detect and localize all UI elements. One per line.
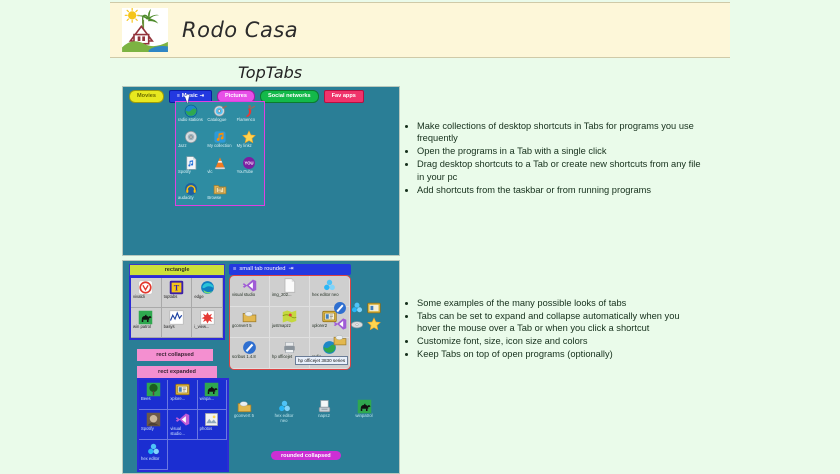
svg-text:YOU: YOU	[245, 161, 254, 166]
cd-disc-icon	[213, 104, 227, 118]
shortcut-winpatrol-expanded[interactable]: winpa...	[198, 380, 227, 410]
shortcut-bees[interactable]: Bees	[139, 380, 168, 410]
shortcut-youtube[interactable]: YOU YouTube	[235, 154, 264, 180]
shortcut-label: edge	[192, 295, 222, 300]
screenshot-toptabs-overview: Movies ≡ Music ⇥ Pictures Social network…	[122, 86, 400, 256]
tooltip-hp-officejet: hp officejet 3830 series	[295, 356, 348, 365]
tab-rounded-collapsed[interactable]: rounded collapsed	[271, 451, 341, 460]
shortcut-audacity[interactable]: audacity	[176, 180, 205, 206]
shortcut-hex-editor-expanded[interactable]: hex editor	[139, 440, 168, 470]
shortcut-spotify[interactable]: Spotify	[176, 154, 205, 180]
xplorer2-icon[interactable]	[367, 301, 381, 315]
shortcut-label: Jazz	[176, 144, 205, 149]
shortcut-my-linkz[interactable]: My linkz	[235, 128, 264, 154]
visual-studio-icon	[242, 278, 257, 293]
shortcut-img-202[interactable]: img_202...	[270, 276, 310, 307]
tab-movies[interactable]: Movies	[129, 90, 164, 103]
shortcut-basys[interactable]: basys	[162, 308, 193, 338]
tab-fav-apps-label: Fav apps	[332, 91, 356, 102]
shortcut-spotify-expanded[interactable]: Spotify	[139, 410, 168, 440]
vlc-cone-icon	[213, 156, 227, 170]
tab-social-networks-label: Social networks	[268, 91, 311, 102]
free-icon-cluster	[333, 301, 395, 349]
shortcut-my-collection[interactable]: My collection	[205, 128, 234, 154]
xplorer2-icon	[175, 382, 190, 397]
shortcut-label: Spotify	[176, 170, 205, 175]
shortcut-label: i_view...	[192, 325, 222, 330]
tab-movies-label: Movies	[137, 91, 156, 102]
list-item: Drag desktop shortcuts to a Tab or creat…	[417, 158, 704, 183]
tab-small-tab-rounded[interactable]: ≡ small tab rounded ⇥	[229, 264, 351, 275]
rect-expanded-icon-grid: Bees xplore...	[137, 378, 229, 472]
shortcut-vivaldi[interactable]: vivaldi	[131, 278, 162, 308]
globe-icon	[184, 104, 198, 118]
shortcut-flamenco[interactable]: Flamenco	[235, 102, 264, 128]
feature-list-2: Some examples of the many possible looks…	[404, 297, 694, 361]
winpatrol-dog-icon	[138, 310, 153, 325]
winpatrol-dog-icon	[204, 382, 219, 397]
hamburger-icon: ≡	[233, 264, 236, 275]
winpatrol-dog-icon	[357, 399, 372, 414]
shortcut-label: gconvert 5	[234, 414, 254, 419]
shortcut-label: YouTube	[235, 170, 264, 175]
cd-grey-icon	[184, 130, 198, 144]
rectangle-tab-panel: rectangle vivaldi T topt	[129, 264, 225, 472]
shortcut-label: Flamenco	[235, 118, 264, 123]
free-icon-row	[333, 301, 395, 315]
toptabs-icon: T	[169, 280, 184, 295]
page-title: TopTabs	[238, 63, 302, 82]
blank-document-icon	[282, 278, 297, 293]
shortcut-win-patrol[interactable]: win patrol	[131, 308, 162, 338]
shortcut-label: hex editor neo	[310, 293, 349, 298]
shortcut-xplorer2-expanded[interactable]: xplore...	[168, 380, 197, 410]
star-icon	[242, 130, 256, 144]
shortcut-label: img_202...	[270, 293, 309, 298]
visual-studio-icon	[175, 412, 190, 427]
shortcut-edge[interactable]: edge	[192, 278, 223, 308]
hex-editor-icon	[146, 442, 161, 457]
shortcut-label: My collection	[205, 144, 234, 149]
shortcut-label: hex editor	[139, 457, 167, 462]
shortcut-label: winpa...	[198, 397, 226, 402]
shortcut-justmapzz[interactable]: justmapzz	[270, 307, 310, 338]
tab-small-tab-rounded-label: small tab rounded	[239, 264, 285, 275]
shortcut-label: justmapzz	[270, 324, 309, 329]
site-header: Rodo Casa	[110, 2, 730, 58]
hex-editor-icon[interactable]	[350, 301, 364, 315]
music-tab-dropdown: radio stations Catalogue Flamenco	[175, 101, 265, 206]
star-icon[interactable]	[367, 317, 381, 331]
tab-fav-apps[interactable]: Fav apps	[324, 90, 364, 103]
shortcut-label: basys	[162, 325, 192, 330]
edge-icon	[200, 280, 215, 295]
shortcut-gconvert-5-bottom[interactable]: gconvert 5	[231, 399, 257, 424]
shortcut-irfanview[interactable]: i_view...	[192, 308, 223, 338]
shortcut-winpatrol-bottom[interactable]: winpatrol	[351, 399, 377, 424]
folder-cloud-icon[interactable]	[333, 333, 347, 347]
sun-house-palm-logo-icon	[122, 8, 168, 52]
shortcut-visual-studio-expanded[interactable]: visual studio...	[168, 410, 197, 440]
shortcut-label: win patrol	[131, 325, 161, 330]
list-item: Keep Tabs on top of open programs (optio…	[417, 348, 694, 360]
scribus-icon[interactable]	[333, 301, 347, 315]
shortcut-photos[interactable]: photos	[198, 410, 227, 440]
bottom-icon-row: gconvert 5 hex editor neo naps2	[231, 399, 377, 424]
feature-list-1: Make collections of desktop shortcuts in…	[404, 120, 704, 196]
list-item: Make collections of desktop shortcuts in…	[417, 120, 704, 145]
list-item: Add shortcuts from the taskbar or from r…	[417, 184, 704, 196]
list-item: Customize font, size, icon size and colo…	[417, 335, 694, 347]
free-icon-row	[333, 333, 395, 347]
tab-rectangle[interactable]: rectangle	[129, 264, 225, 276]
shortcut-label: xplore...	[168, 397, 196, 402]
shortcut-label: radio stations	[176, 118, 205, 123]
dancer-icon	[242, 104, 256, 118]
shortcut-label: photos	[198, 427, 226, 432]
youtube-icon: YOU	[242, 156, 256, 170]
shortcut-radio-stations[interactable]: radio stations	[176, 102, 205, 128]
folder-cloud-icon	[242, 309, 257, 324]
tab-rect-expanded[interactable]: rect expanded	[137, 366, 217, 378]
spotify-photo-icon	[146, 412, 161, 427]
shortcut-label: winpatrol	[355, 414, 372, 419]
basys-chart-icon	[169, 310, 184, 325]
scribus-icon	[242, 340, 257, 355]
brand-title: Rodo Casa	[182, 18, 298, 42]
shortcut-visual-studio[interactable]: visual studio	[230, 276, 270, 307]
printer-icon	[282, 340, 297, 355]
folder-browse-icon	[213, 182, 227, 196]
list-item: Some examples of the many possible looks…	[417, 297, 694, 309]
shortcut-label: scribus 1.4.8	[230, 355, 269, 360]
free-icon-row	[333, 317, 395, 331]
shortcut-label: visual studio...	[168, 427, 196, 436]
tree-icon	[146, 382, 161, 397]
rectangle-tab-icon-grid: vivaldi T toptabs edge	[129, 276, 225, 340]
list-item: Open the programs in a Tab with a single…	[417, 145, 704, 157]
shortcut-label: naps2	[318, 414, 330, 419]
visual-studio-icon[interactable]	[333, 317, 347, 331]
screenshot-tab-styles: rectangle vivaldi T topt	[122, 260, 400, 474]
cd-grey-icon[interactable]	[350, 317, 364, 331]
pin-icon: ⇥	[288, 264, 293, 275]
scanner-icon	[317, 399, 332, 414]
folder-cloud-icon	[237, 399, 252, 414]
irfanview-icon	[200, 310, 215, 325]
tab-social-networks[interactable]: Social networks	[260, 90, 319, 103]
shortcut-scribus[interactable]: scribus 1.4.8	[230, 338, 270, 369]
list-item: Tabs can be set to expand and collapse a…	[417, 310, 694, 335]
vivaldi-icon	[138, 280, 153, 295]
shortcut-label: vlc	[205, 170, 234, 175]
shortcut-label: Catalogue	[205, 118, 234, 123]
shortcut-label: Bees	[139, 397, 167, 402]
shortcut-label: Browse	[205, 196, 234, 201]
shortcut-label: visual studio	[230, 293, 269, 298]
shortcut-label: My linkz	[235, 144, 264, 149]
tab-rect-collapsed[interactable]: rect collapsed	[137, 349, 213, 361]
shortcut-label: hex editor neo	[271, 414, 297, 424]
shortcut-jazz[interactable]: Jazz	[176, 128, 205, 154]
music-note-icon	[213, 130, 227, 144]
empty-cell	[235, 180, 264, 206]
note-doc-icon	[184, 156, 198, 170]
photos-icon	[204, 412, 219, 427]
shortcut-label: gconvert 5	[230, 324, 269, 329]
shortcut-label: Spotify	[139, 427, 167, 432]
shortcut-hex-editor-neo-bottom[interactable]: hex editor neo	[271, 399, 297, 424]
shortcut-label: vivaldi	[131, 295, 161, 300]
shortcut-vlc[interactable]: vlc	[205, 154, 234, 180]
svg-text:T: T	[174, 284, 180, 293]
shortcut-gconvert-5[interactable]: gconvert 5	[230, 307, 270, 338]
hex-editor-icon	[322, 278, 337, 293]
map-icon	[282, 309, 297, 324]
audacity-headphones-icon	[184, 182, 198, 196]
shortcut-toptabs[interactable]: T toptabs	[162, 278, 193, 308]
shortcut-browse[interactable]: Browse	[205, 180, 234, 206]
hex-editor-icon	[277, 399, 292, 414]
shortcut-label: toptabs	[162, 295, 192, 300]
shortcut-label: audacity	[176, 196, 205, 201]
page-root: Rodo Casa TopTabs Movies ≡ Music ⇥ Pictu…	[0, 0, 840, 472]
shortcut-naps2[interactable]: naps2	[311, 399, 337, 424]
shortcut-catalogue[interactable]: Catalogue	[205, 102, 234, 128]
